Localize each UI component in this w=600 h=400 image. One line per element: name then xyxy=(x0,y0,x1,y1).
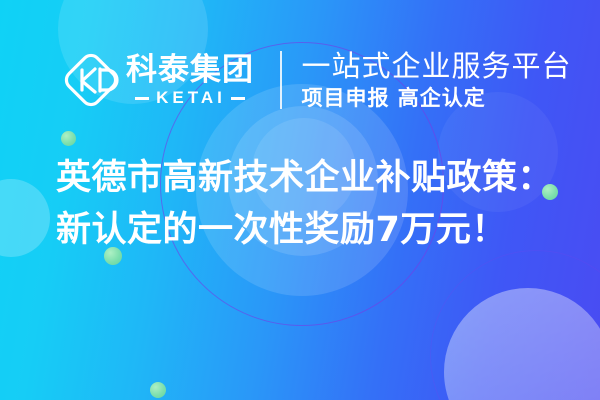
header-divider xyxy=(280,51,282,109)
decorative-ring-outline-small xyxy=(430,250,600,400)
tagline-block: 一站式企业服务平台 项目申报 高企认定 xyxy=(302,49,572,111)
logo-rule-left xyxy=(135,97,149,100)
tagline-main: 一站式企业服务平台 xyxy=(302,49,572,83)
logo-rule-right xyxy=(231,97,245,100)
logo-name-en: KETAI xyxy=(156,89,226,107)
decorative-circle-left-edge xyxy=(0,179,50,257)
decorative-dot-green-4 xyxy=(150,382,166,398)
promo-banner: 科泰集团 KETAI 一站式企业服务平台 项目申报 高企认定 英德市高新技术企业… xyxy=(0,0,600,400)
headline-block: 英德市高新技术企业补贴政策： 新认定的一次性奖励7万元！ xyxy=(56,152,556,256)
ketai-diamond-monogram-icon xyxy=(62,51,120,109)
headline-line-2: 新认定的一次性奖励7万元！ xyxy=(56,204,556,256)
logo-wordmark: 科泰集团 KETAI xyxy=(126,53,254,107)
logo-name-cn: 科泰集团 xyxy=(126,53,254,87)
tagline-sub: 项目申报 高企认定 xyxy=(302,85,572,111)
logo-name-en-row: KETAI xyxy=(126,89,254,107)
decorative-circle-bottom-right xyxy=(444,288,600,400)
headline-line-1: 英德市高新技术企业补贴政策： xyxy=(56,152,556,204)
banner-header: 科泰集团 KETAI 一站式企业服务平台 项目申报 高企认定 xyxy=(62,42,572,118)
decorative-dot-green-1 xyxy=(61,131,76,146)
